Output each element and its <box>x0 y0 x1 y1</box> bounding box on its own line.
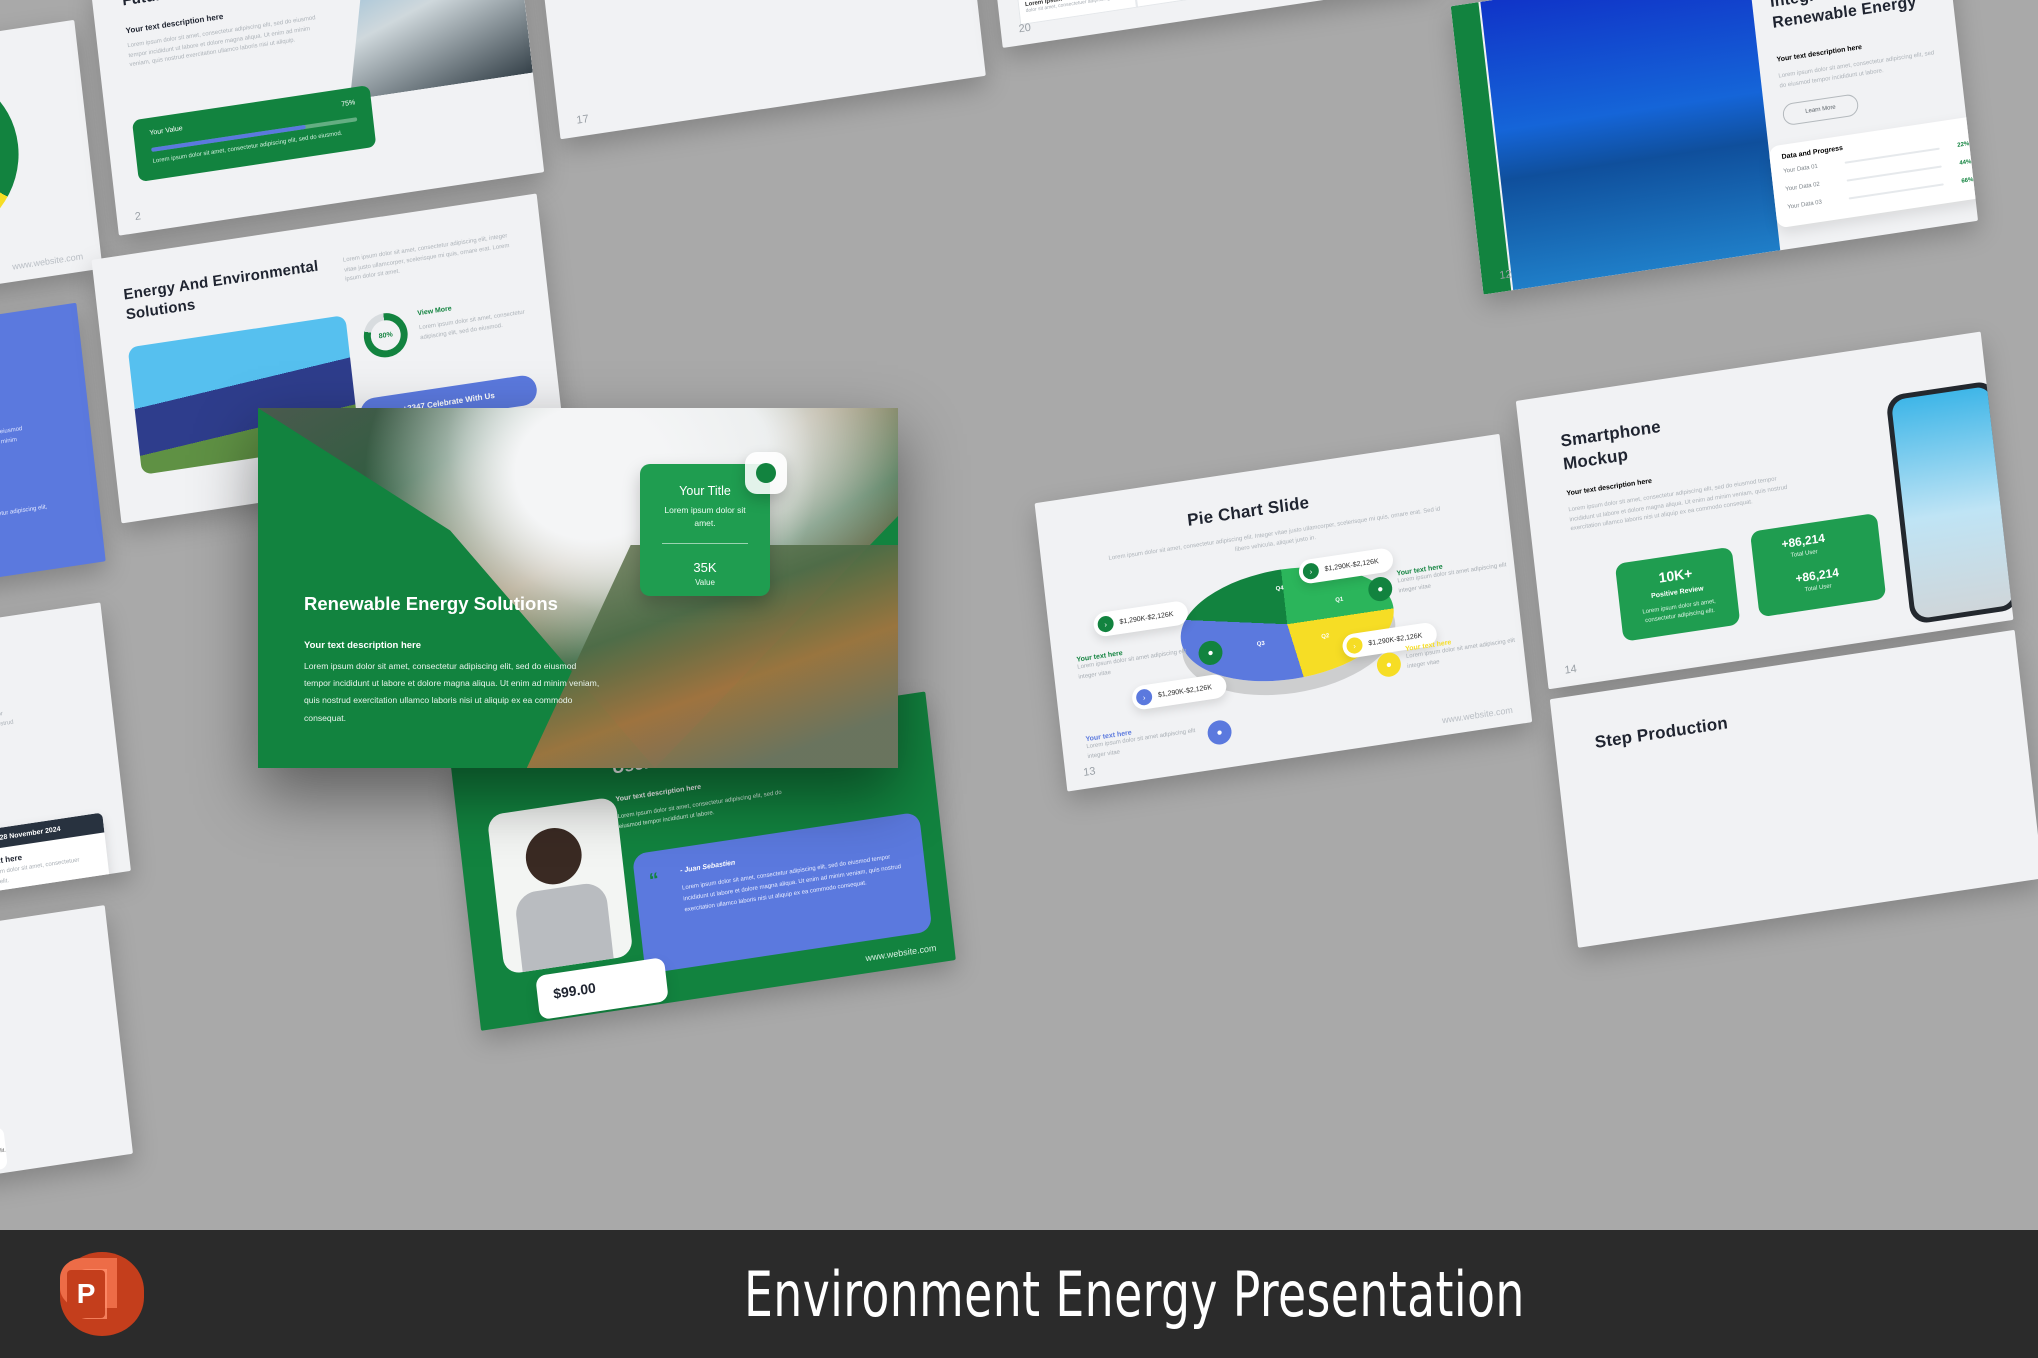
stat-card-1: +86,214 Total User +86,214 Total User <box>1750 513 1886 617</box>
refresh-icon: ● <box>1206 719 1232 746</box>
avatar <box>487 796 634 974</box>
slide-pie-chart[interactable]: Pie Chart Slide Lorem ipsum dolor sit am… <box>1035 434 1533 792</box>
slide-table[interactable]: Table Slide Lorem ipsum dolor sit amet, … <box>974 0 1438 48</box>
table-row-label: Lorem ipsumdolor sit amet, consectetuer … <box>1017 0 1137 25</box>
quote-icon: “ <box>648 869 660 893</box>
pie-annotation-list: ●Your text hereLorem ipsum dolor sit ame… <box>1035 434 1500 503</box>
table-body: Lorem ipsumdolor sit amet, consectetuer … <box>1009 0 1416 25</box>
future-item-list: 01Your text hereLorem ipsum dolor sit am… <box>0 905 105 974</box>
featured-title: Renewable Energy Solutions <box>304 593 558 615</box>
progress-card: Your Value 75% Lorem ipsum dolor sit ame… <box>132 85 376 182</box>
slide-table-budget-report[interactable]: Table Budget Report Your text descriptio… <box>0 602 131 940</box>
card-value: 35K <box>693 560 716 575</box>
title-bar: P Environment Energy Presentation <box>0 1230 2038 1358</box>
card-value-label: Value <box>695 578 715 587</box>
slide-future-of-renewable-energy[interactable]: The Future Of Renewable Energy 01Your te… <box>0 905 133 1223</box>
table-row: Lorem ipsumdolor sit amet, consectetuer … <box>1017 0 1416 25</box>
data-progress-card: Data and Progress Your Data 0122%Your Da… <box>1768 116 1978 229</box>
stat-card-0: 10K+ Positive Review Lorem ipsum dolor s… <box>1615 547 1741 642</box>
table-cell[interactable] <box>1134 0 1192 8</box>
pie-label-list: ›$1,290K-$2,126K›$1,290K-$2,126K›$1,290K… <box>1035 434 1500 503</box>
pie-annotation: ●Your text hereLorem ipsum dolor sit ame… <box>1396 553 1514 596</box>
phone-mockup <box>1885 380 2013 625</box>
featured-slide[interactable]: Renewable Energy Solutions Your text des… <box>258 408 898 768</box>
pie-annotation: ●Your text hereLorem ipsum dolor sit ame… <box>1085 719 1203 762</box>
pie-value-label: ›$1,290K-$2,126K <box>1131 673 1227 711</box>
learn-more-button[interactable]: Learn More <box>1782 93 1860 126</box>
slide-sustainable-future[interactable]: Future Your text description here Lorem … <box>91 0 545 236</box>
turbine-photo <box>1480 0 1780 290</box>
card-description: Lorem ipsum dolor sit amet. <box>653 504 757 530</box>
circle-badge-icon <box>745 452 787 494</box>
table: Survey Indicator Value A Value B Value C… <box>1006 0 1416 25</box>
template-preview-canvas: ...alysis Lorem ipsum dolor sit amet, co… <box>0 0 2038 1358</box>
slide-smartphone-mockup[interactable]: Smartphone Mockup Your text description … <box>1516 332 2014 690</box>
featured-subtitle: Your text description here <box>304 640 421 651</box>
pie-annotation: ●Your text hereLorem ipsum dolor sit ame… <box>1076 640 1194 683</box>
slide-integrating-renewable-energy[interactable]: Integrating Renewable Energy Your text d… <box>1451 0 1978 295</box>
featured-body: Lorem ipsum dolor sit amet, consectetur … <box>304 658 604 727</box>
pie-value-label: ›$1,290K-$2,126K <box>1092 600 1188 638</box>
data-progress-row: Your Data 0122% <box>1783 141 1970 175</box>
card-title: Your Title <box>679 484 731 498</box>
slide-donut-analysis[interactable]: ...alysis Lorem ipsum dolor sit amet, co… <box>0 20 103 332</box>
slide-renewable-energy-revolution[interactable]: Renewable Energy Revolution Your text de… <box>0 303 106 625</box>
donut-chart <box>0 60 28 254</box>
slide-green-cards[interactable]: Your Text Here Your Text Here 17 <box>532 0 986 139</box>
powerpoint-icon-letter: P <box>67 1270 106 1317</box>
budget-card-list: 2024Your text hereLorem ipsum dolor sit … <box>0 602 100 671</box>
page-title: Environment Energy Presentation <box>744 1258 1525 1331</box>
divider <box>662 543 748 544</box>
diamond-icon: ● <box>1376 651 1402 678</box>
donut-80: 80% <box>362 310 411 360</box>
future-item[interactable]: 03Your text hereLorem ipsum dolor sit am… <box>0 1127 8 1195</box>
powerpoint-icon: P <box>60 1252 144 1336</box>
